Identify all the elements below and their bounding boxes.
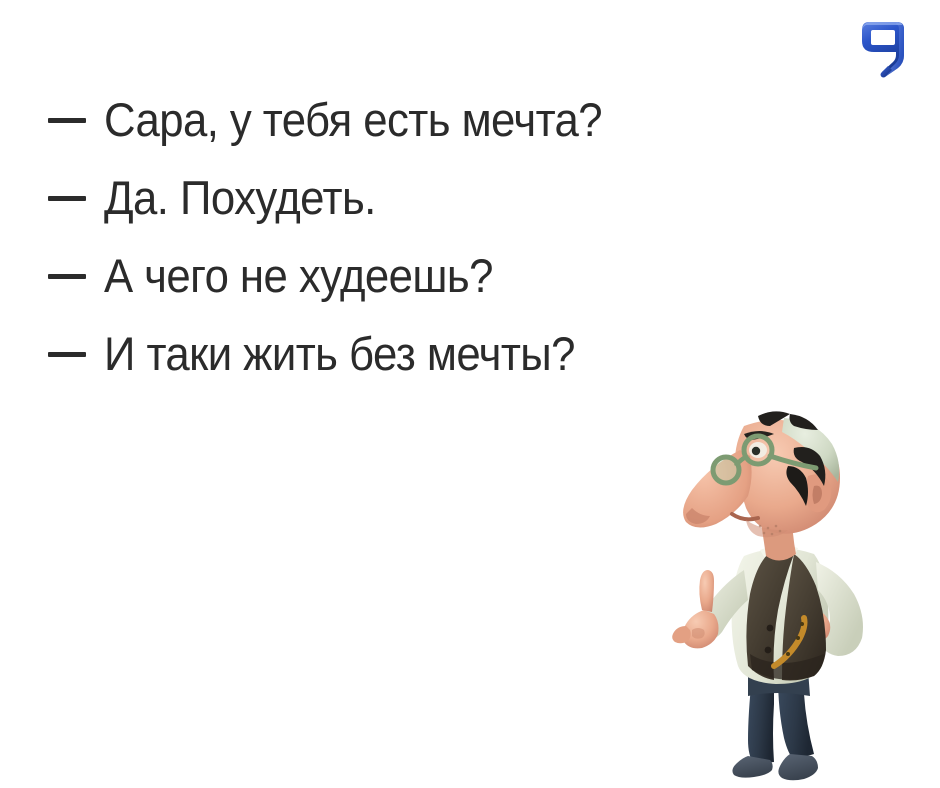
thumb: [672, 626, 690, 643]
chain-link: [786, 652, 790, 656]
shoes: [732, 754, 818, 780]
nine-logo[interactable]: [852, 16, 914, 78]
pupil: [752, 447, 760, 455]
logo-counter: [871, 30, 895, 45]
head: [683, 411, 840, 537]
em-dash-icon: [48, 274, 86, 279]
joke-card: Сара, у тебя есть мечта? Да. Похудеть. А…: [0, 0, 940, 788]
em-dash-icon: [48, 352, 86, 357]
joke-text-block: Сара, у тебя есть мечта? Да. Похудеть. А…: [0, 96, 780, 408]
knuckles-shading: [692, 628, 705, 639]
joke-line: Да. Похудеть.: [0, 174, 780, 252]
em-dash-icon: [48, 196, 86, 201]
vest-button: [767, 625, 774, 632]
glasses-lens-right: [713, 457, 739, 483]
joke-line-text: И таки жить без мечты?: [104, 330, 575, 377]
nine-logo-icon: [852, 16, 914, 78]
joke-line-text: Сара, у тебя есть мечта?: [104, 96, 602, 143]
joke-line-text: А чего не худеешь?: [104, 252, 493, 299]
joke-line: И таки жить без мечты?: [0, 330, 780, 408]
figurine-illustration: [648, 404, 920, 788]
joke-line: Сара, у тебя есть мечта?: [0, 96, 780, 174]
chain-link: [800, 622, 804, 626]
vest-button: [765, 647, 772, 654]
joke-line: А чего не худеешь?: [0, 252, 780, 330]
index-finger: [699, 570, 714, 612]
chain-link: [796, 636, 800, 640]
clay-old-man-figurine: [648, 404, 920, 788]
em-dash-icon: [48, 118, 86, 123]
right-shoe: [778, 754, 818, 780]
joke-line-text: Да. Похудеть.: [104, 174, 376, 221]
